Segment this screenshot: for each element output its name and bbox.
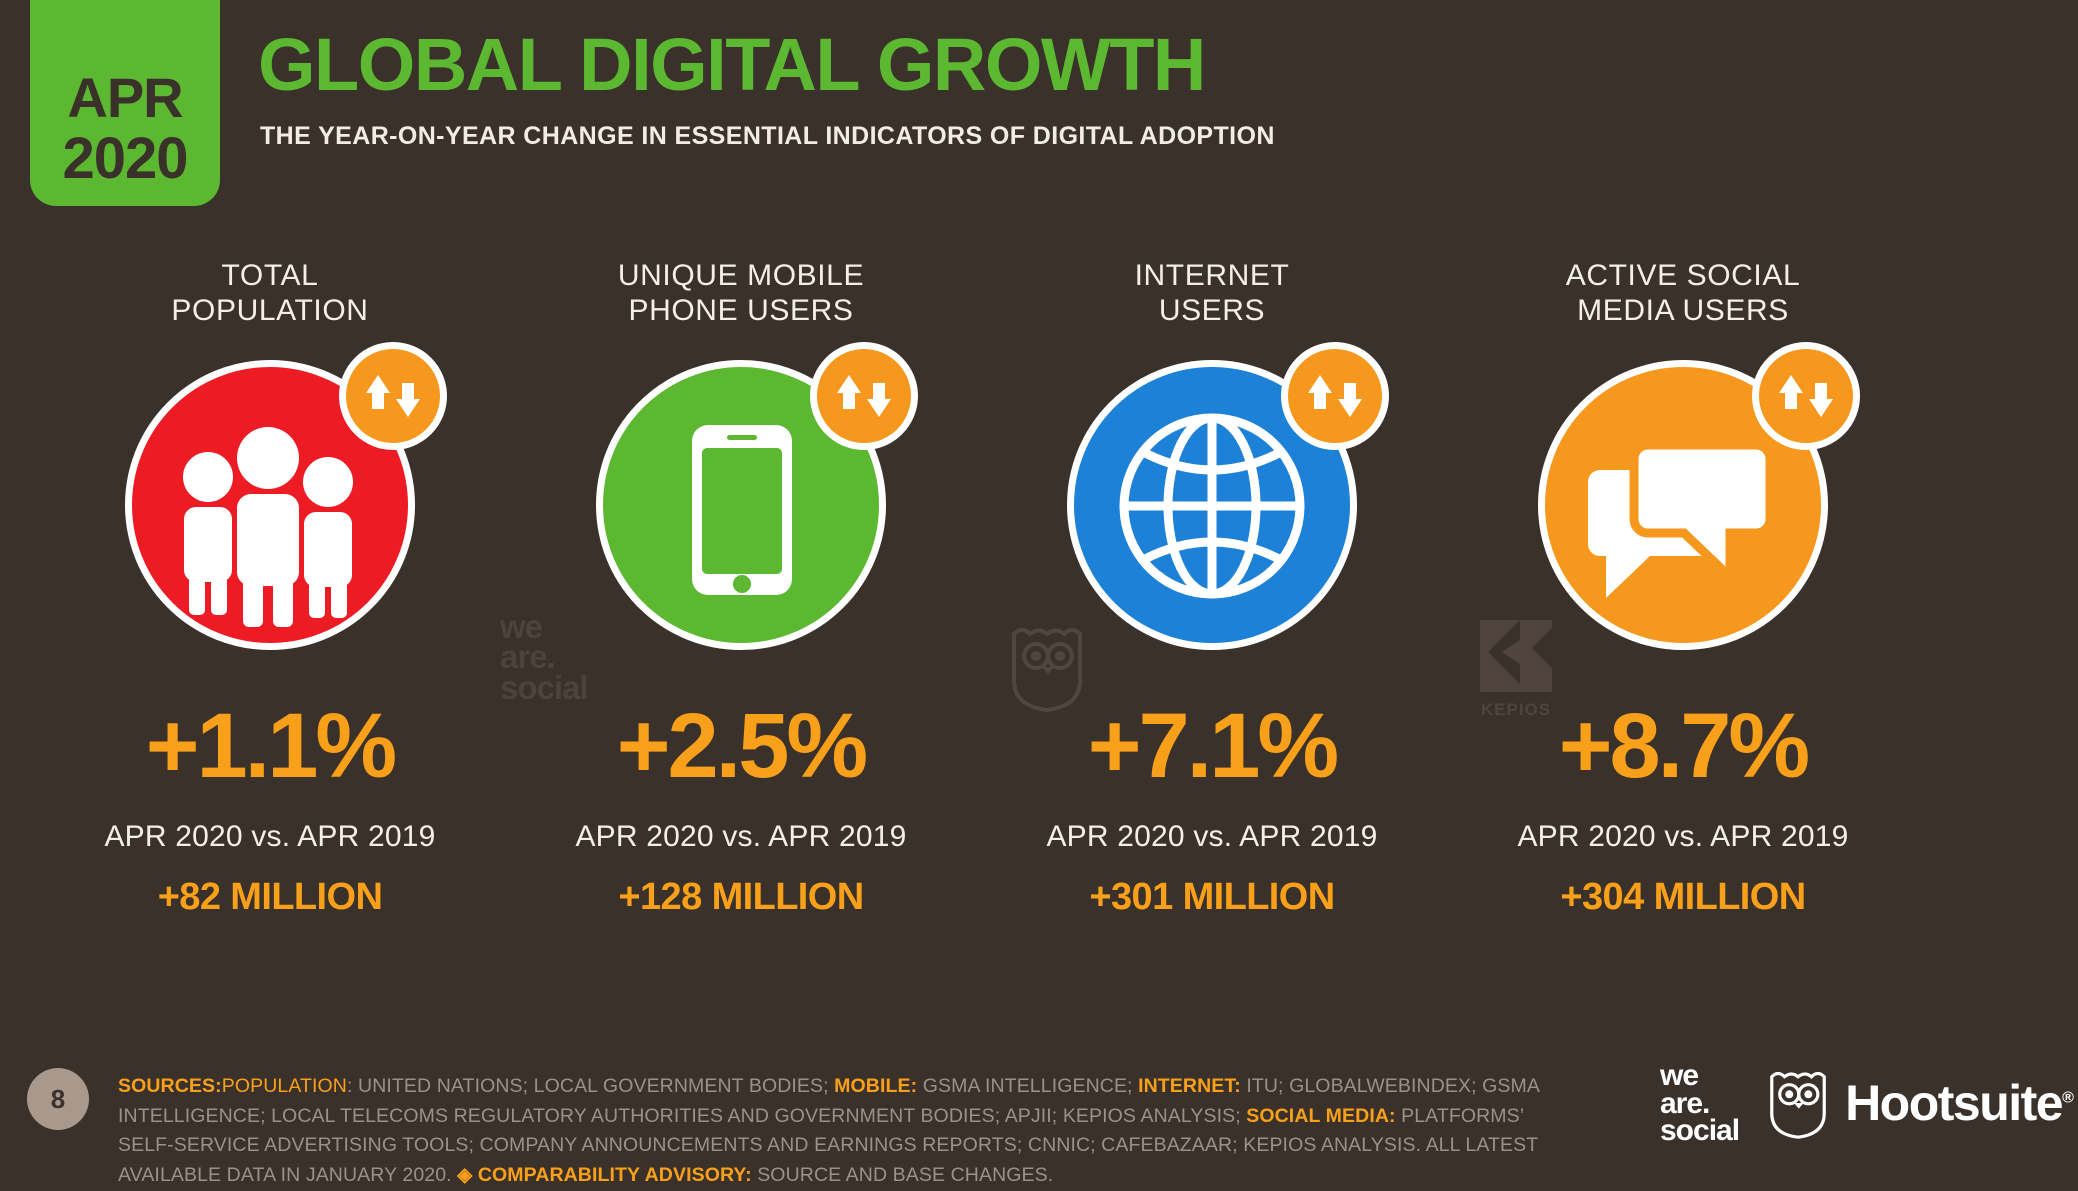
metric-icon-group bbox=[1538, 360, 1828, 650]
metric-column-internet-users: INTERNET USERS +7.1% APR 2020 vs. APR 20… bbox=[977, 258, 1447, 916]
hootsuite-logo: Hootsuite® bbox=[1767, 1065, 2072, 1141]
metric-comparison: APR 2020 vs. APR 2019 bbox=[35, 822, 505, 852]
hootsuite-owl-watermark bbox=[1008, 622, 1086, 717]
owl-icon bbox=[1008, 622, 1086, 712]
page-title: GLOBAL DIGITAL GROWTH bbox=[258, 28, 1205, 102]
growth-badge bbox=[1752, 342, 1860, 450]
sources-cat-mobile: MOBILE: bbox=[834, 1075, 917, 1097]
growth-badge bbox=[339, 342, 447, 450]
date-tab: APR 2020 bbox=[30, 0, 220, 206]
metric-percent: +1.1% bbox=[35, 700, 505, 792]
metric-icon-group bbox=[596, 360, 886, 650]
page-subtitle: THE YEAR-ON-YEAR CHANGE IN ESSENTIAL IND… bbox=[260, 124, 1275, 149]
advisory-diamond-icon: ◈ bbox=[457, 1164, 478, 1186]
up-down-arrows-icon bbox=[831, 363, 897, 429]
metric-icon-group bbox=[1067, 360, 1357, 650]
metric-icon-group bbox=[125, 360, 415, 650]
sources-cat-internet: INTERNET: bbox=[1138, 1075, 1241, 1097]
footer-logos: we are. social Hootsuite® bbox=[1660, 1062, 2072, 1145]
sources-seg-1b: GSMA INTELLIGENCE; bbox=[917, 1075, 1138, 1097]
registered-mark-icon: ® bbox=[2062, 1090, 2072, 1107]
metric-absolute: +301 MILLION bbox=[977, 878, 1447, 916]
metric-label: TOTAL POPULATION bbox=[35, 258, 505, 328]
kepios-logo-icon bbox=[1480, 620, 1552, 692]
logo-line-we: we bbox=[1660, 1062, 1739, 1090]
metric-label: INTERNET USERS bbox=[977, 258, 1447, 328]
metric-absolute: +82 MILLION bbox=[35, 878, 505, 916]
growth-badge bbox=[810, 342, 918, 450]
kepios-label: KEPIOS bbox=[1480, 700, 1552, 720]
up-down-arrows-icon bbox=[360, 363, 426, 429]
metric-absolute: +304 MILLION bbox=[1448, 878, 1918, 916]
sources-text: SOURCES:POPULATION: UNITED NATIONS; LOCA… bbox=[118, 1072, 1578, 1191]
header: APR 2020 GLOBAL DIGITAL GROWTH THE YEAR-… bbox=[0, 0, 2078, 210]
growth-badge bbox=[1281, 342, 1389, 450]
metric-percent: +2.5% bbox=[506, 700, 976, 792]
sources-seg-1a: : UNITED NATIONS; LOCAL GOVERNMENT BODIE… bbox=[347, 1075, 834, 1097]
hootsuite-wordmark: Hootsuite® bbox=[1845, 1078, 2072, 1128]
comparability-advisory-label: COMPARABILITY ADVISORY: bbox=[478, 1164, 752, 1186]
sources-prefix: SOURCES: bbox=[118, 1075, 222, 1097]
metric-column-total-population: TOTAL POPULATION bbox=[35, 258, 505, 916]
sources-cat-social-media: SOCIAL MEDIA: bbox=[1246, 1105, 1395, 1127]
metric-comparison: APR 2020 vs. APR 2019 bbox=[506, 822, 976, 852]
we-are-social-watermark: we are. social bbox=[500, 612, 630, 703]
date-tab-month: APR bbox=[67, 70, 182, 126]
sources-seg-3b: SOURCE AND BASE CHANGES. bbox=[752, 1164, 1054, 1186]
up-down-arrows-icon bbox=[1302, 363, 1368, 429]
metric-label: UNIQUE MOBILE PHONE USERS bbox=[506, 258, 976, 328]
hootsuite-word: Hootsuite bbox=[1845, 1075, 2062, 1131]
page-number-badge: 8 bbox=[27, 1068, 89, 1130]
logo-line-social: social bbox=[1660, 1117, 1739, 1145]
metric-comparison: APR 2020 vs. APR 2019 bbox=[977, 822, 1447, 852]
kepios-watermark: KEPIOS bbox=[1480, 620, 1552, 720]
logo-line-are: are. bbox=[1660, 1090, 1739, 1118]
watermark-line-social: social bbox=[500, 673, 630, 703]
up-down-arrows-icon bbox=[1773, 363, 1839, 429]
hootsuite-owl-icon bbox=[1767, 1065, 1829, 1141]
metric-column-active-social-media-users: ACTIVE SOCIAL MEDIA USERS +8.7% APR 2020… bbox=[1448, 258, 1918, 916]
date-tab-year: 2020 bbox=[62, 130, 187, 188]
sources-seg-2a: REGULATORY AUTHORITIES AND GOVERNMENT BO… bbox=[454, 1105, 1247, 1127]
metric-comparison: APR 2020 vs. APR 2019 bbox=[1448, 822, 1918, 852]
metric-label: ACTIVE SOCIAL MEDIA USERS bbox=[1448, 258, 1918, 328]
sources-cat-population: POPULATION bbox=[222, 1075, 347, 1097]
metric-absolute: +128 MILLION bbox=[506, 878, 976, 916]
we-are-social-logo: we are. social bbox=[1660, 1062, 1739, 1145]
metric-column-unique-mobile-phone-users: UNIQUE MOBILE PHONE USERS +2.5% APR 2020… bbox=[506, 258, 976, 916]
